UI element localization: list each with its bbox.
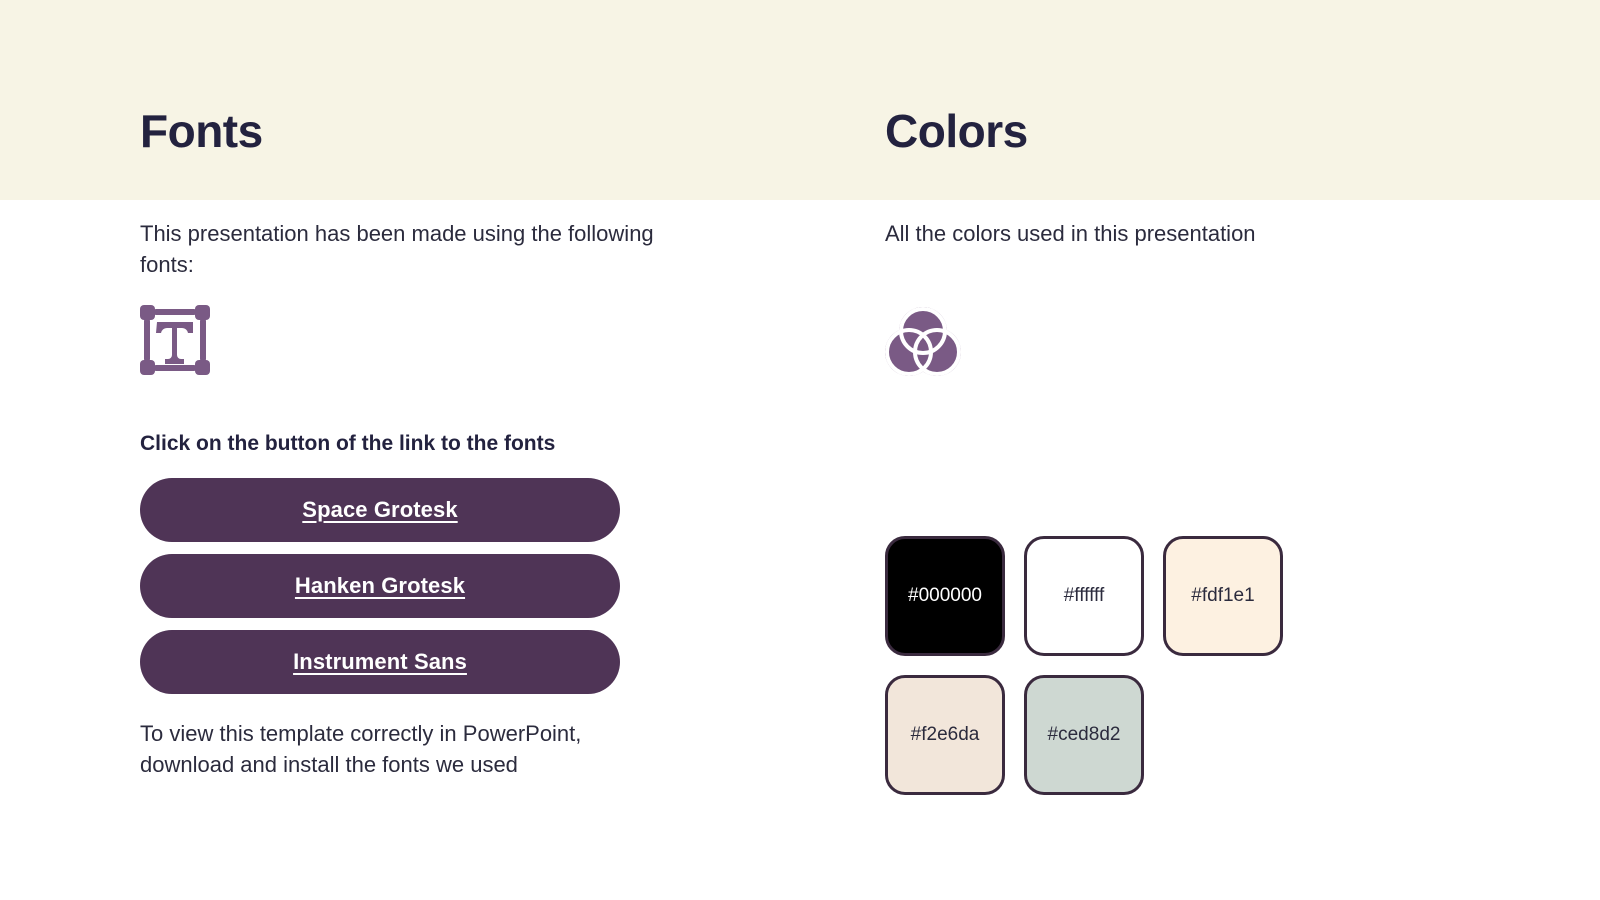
color-swatch-f2e6da[interactable]: #f2e6da: [885, 675, 1005, 795]
venn-circles-icon: [885, 305, 961, 377]
font-link-button-hanken-grotesk[interactable]: Hanken Grotesk: [140, 554, 620, 618]
header-band: [0, 0, 1600, 200]
colors-description: All the colors used in this presentation: [885, 218, 1405, 249]
color-swatch-black[interactable]: #000000: [885, 536, 1005, 656]
fonts-footnote: To view this template correctly in Power…: [140, 718, 680, 780]
color-swatch-white[interactable]: #ffffff: [1024, 536, 1144, 656]
font-link-button-space-grotesk[interactable]: Space Grotesk: [140, 478, 620, 542]
slide-root: Fonts This presentation has been made us…: [0, 0, 1600, 900]
colors-section-title: Colors: [885, 105, 1028, 158]
fonts-section-title: Fonts: [140, 105, 263, 158]
font-link-button-stack: Space Grotesk Hanken Grotesk Instrument …: [140, 478, 620, 694]
color-swatch-fdf1e1[interactable]: #fdf1e1: [1163, 536, 1283, 656]
color-swatch-grid: #000000 #ffffff #fdf1e1 #f2e6da #ced8d2: [885, 536, 1305, 795]
text-frame-icon: [140, 305, 210, 375]
click-instruction-label: Click on the button of the link to the f…: [140, 432, 555, 456]
fonts-description: This presentation has been made using th…: [140, 218, 660, 280]
font-link-button-instrument-sans[interactable]: Instrument Sans: [140, 630, 620, 694]
color-swatch-ced8d2[interactable]: #ced8d2: [1024, 675, 1144, 795]
